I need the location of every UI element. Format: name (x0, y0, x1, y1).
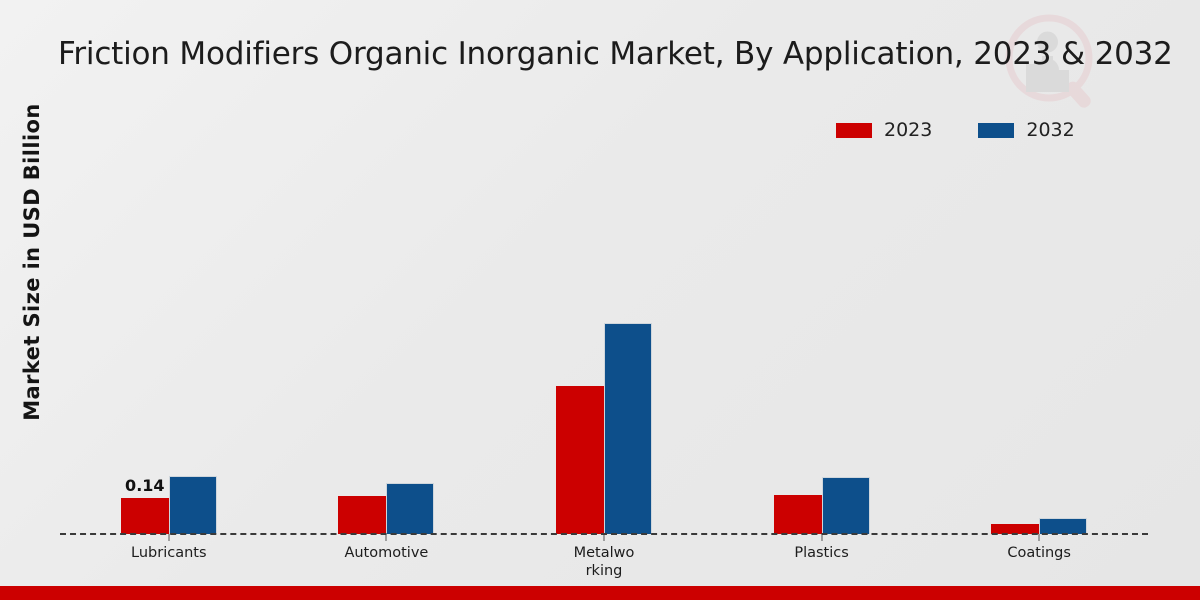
x-axis-category-label: Coatings (979, 544, 1099, 562)
bar-2032-plastics[interactable] (822, 477, 870, 534)
bar-group-coatings: Coatings (930, 150, 1148, 534)
x-axis-tick (386, 534, 387, 541)
x-axis-category-label: Automotive (326, 544, 446, 562)
bar-2032-automotive[interactable] (386, 483, 434, 534)
bar-pair: Coatings (991, 518, 1087, 534)
bar-group-plastics: Plastics (713, 150, 931, 534)
x-axis-baseline (60, 533, 1148, 535)
chart-page: Friction Modifiers Organic Inorganic Mar… (0, 0, 1200, 600)
bar-2023-plastics[interactable] (774, 495, 822, 534)
page-title: Friction Modifiers Organic Inorganic Mar… (58, 34, 1148, 74)
legend-swatch-2032-icon (978, 123, 1014, 138)
bar-group-metalworking: Metalworking (495, 150, 713, 534)
legend-swatch-2023-icon (836, 123, 872, 138)
x-axis-category-label: Lubricants (109, 544, 229, 562)
x-axis-tick (603, 534, 604, 541)
x-axis-category-label: Metalworking (544, 544, 664, 580)
bar-pair: Plastics (774, 477, 870, 534)
bar-pair: 0.14Lubricants (121, 476, 217, 534)
bar-2032-coatings[interactable] (1039, 518, 1087, 534)
legend-item-2032[interactable]: 2032 (978, 121, 1074, 140)
legend-label-2023: 2023 (884, 121, 932, 140)
bar-2023-lubricants[interactable]: 0.14 (121, 498, 169, 534)
bar-pair: Metalworking (556, 323, 652, 534)
y-axis-label: Market Size in USD Billion (20, 102, 44, 422)
bar-2023-automotive[interactable] (338, 496, 386, 534)
x-axis-tick (168, 534, 169, 541)
footer-band (0, 586, 1200, 600)
bar-pair: Automotive (338, 483, 434, 534)
chart-legend: 2023 2032 (836, 121, 1075, 140)
chart-plot-area: 0.14LubricantsAutomotiveMetalworkingPlas… (60, 150, 1148, 534)
legend-item-2023[interactable]: 2023 (836, 121, 932, 140)
bar-value-label: 0.14 (125, 476, 164, 495)
bar-group-lubricants: 0.14Lubricants (60, 150, 278, 534)
legend-label-2032: 2032 (1026, 121, 1074, 140)
bar-group-automotive: Automotive (278, 150, 496, 534)
bar-2023-metalworking[interactable] (556, 386, 604, 534)
x-axis-tick (1039, 534, 1040, 541)
bar-2032-metalworking[interactable] (604, 323, 652, 534)
bar-2032-lubricants[interactable] (169, 476, 217, 534)
x-axis-tick (821, 534, 822, 541)
x-axis-category-label: Plastics (762, 544, 882, 562)
